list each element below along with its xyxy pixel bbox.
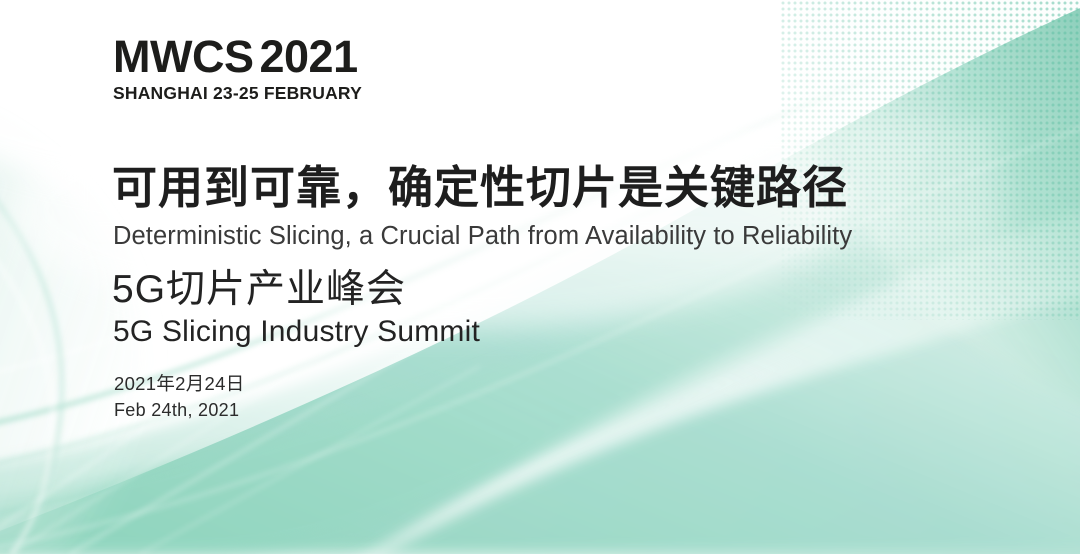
summit-title-en: 5G Slicing Industry Summit xyxy=(113,315,480,350)
event-banner: MWCS2021 SHANGHAI 23-25 FEBRUARY 可用到可靠，确… xyxy=(0,0,1080,554)
logo-name: MWCS xyxy=(113,31,253,82)
banner-content: MWCS2021 SHANGHAI 23-25 FEBRUARY 可用到可靠，确… xyxy=(0,0,1080,554)
logo-wordmark: MWCS2021 xyxy=(113,34,362,79)
event-date-cn: 2021年2月24日 xyxy=(114,370,245,396)
headline-en: Deterministic Slicing, a Crucial Path fr… xyxy=(113,222,852,250)
logo-year: 2021 xyxy=(259,31,357,82)
logo-subtitle: SHANGHAI 23-25 FEBRUARY xyxy=(113,83,362,104)
event-date-en: Feb 24th, 2021 xyxy=(114,400,239,421)
headline-cn: 可用到可靠，确定性切片是关键路径 xyxy=(112,163,848,213)
summit-title-cn: 5G切片产业峰会 xyxy=(112,268,406,313)
mwcs-logo: MWCS2021 SHANGHAI 23-25 FEBRUARY xyxy=(113,34,362,104)
